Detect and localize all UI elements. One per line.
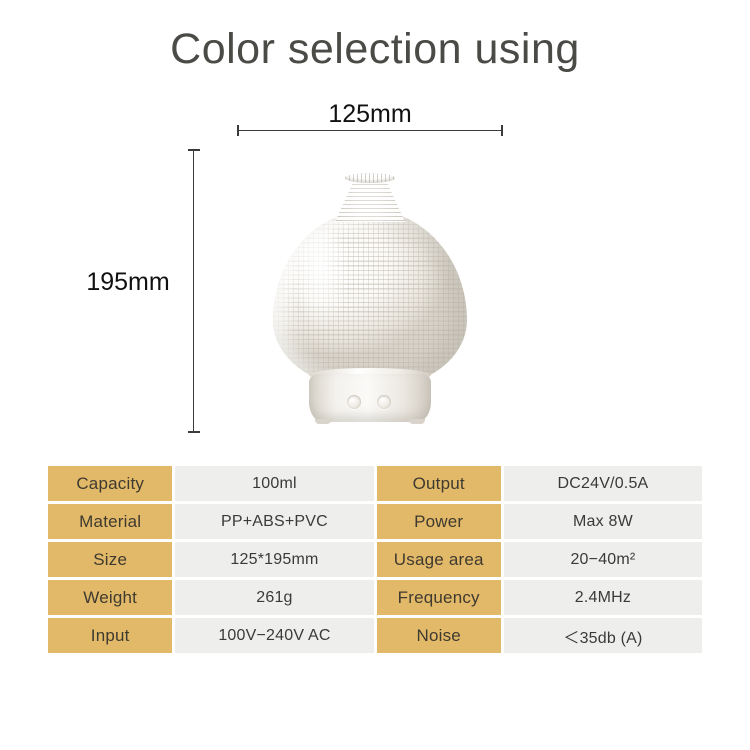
table-row: Input 100V−240V AC Noise ＜35db (A) [48,618,702,653]
spec-value-frequency: 2.4MHz [504,580,702,615]
diffuser-foot-left [315,419,331,424]
spec-value-material: PP+ABS+PVC [175,504,373,539]
table-row: Size 125*195mm Usage area 20−40m² [48,542,702,577]
width-dimension-label: 125mm [237,100,503,129]
height-dimension-label: 195mm [78,268,178,297]
table-row: Capacity 100ml Output DC24V/0.5A [48,466,702,501]
spec-value-weight: 261g [175,580,373,615]
width-dimension-annotation: 125mm [237,100,503,145]
spec-value-usage-area: 20−40m² [504,542,702,577]
table-row: Weight 261g Frequency 2.4MHz [48,580,702,615]
diffuser-neck-rim [345,173,395,183]
spec-value-input: 100V−240V AC [175,618,373,653]
spec-label-output: Output [377,466,501,501]
diffuser-foot-right [409,419,425,424]
specification-table: Capacity 100ml Output DC24V/0.5A Materia… [48,466,702,653]
spec-value-capacity: 100ml [175,466,373,501]
spec-label-weight: Weight [48,580,172,615]
diffuser-light-button[interactable] [377,395,391,409]
diffuser-base [309,374,431,422]
diffuser-body-highlight [299,232,351,332]
spec-label-capacity: Capacity [48,466,172,501]
spec-label-usage-area: Usage area [377,542,501,577]
height-dimension-line [193,150,194,433]
width-dimension-tick-left [237,125,239,136]
height-dimension-tick-bottom [188,431,200,433]
spec-label-material: Material [48,504,172,539]
height-dimension-annotation: 195mm [78,148,198,438]
height-dimension-tick-top [188,149,200,151]
diffuser-power-button[interactable] [347,395,361,409]
spec-value-output: DC24V/0.5A [504,466,702,501]
width-dimension-tick-right [501,125,503,136]
product-image-diffuser [265,176,475,434]
spec-value-power: Max 8W [504,504,702,539]
spec-value-size: 125*195mm [175,542,373,577]
spec-label-frequency: Frequency [377,580,501,615]
table-row: Material PP+ABS+PVC Power Max 8W [48,504,702,539]
spec-label-power: Power [377,504,501,539]
width-dimension-line [237,130,503,131]
spec-label-input: Input [48,618,172,653]
spec-label-size: Size [48,542,172,577]
spec-value-noise: ＜35db (A) [504,618,702,653]
page-title: Color selection using [0,26,750,73]
spec-label-noise: Noise [377,618,501,653]
